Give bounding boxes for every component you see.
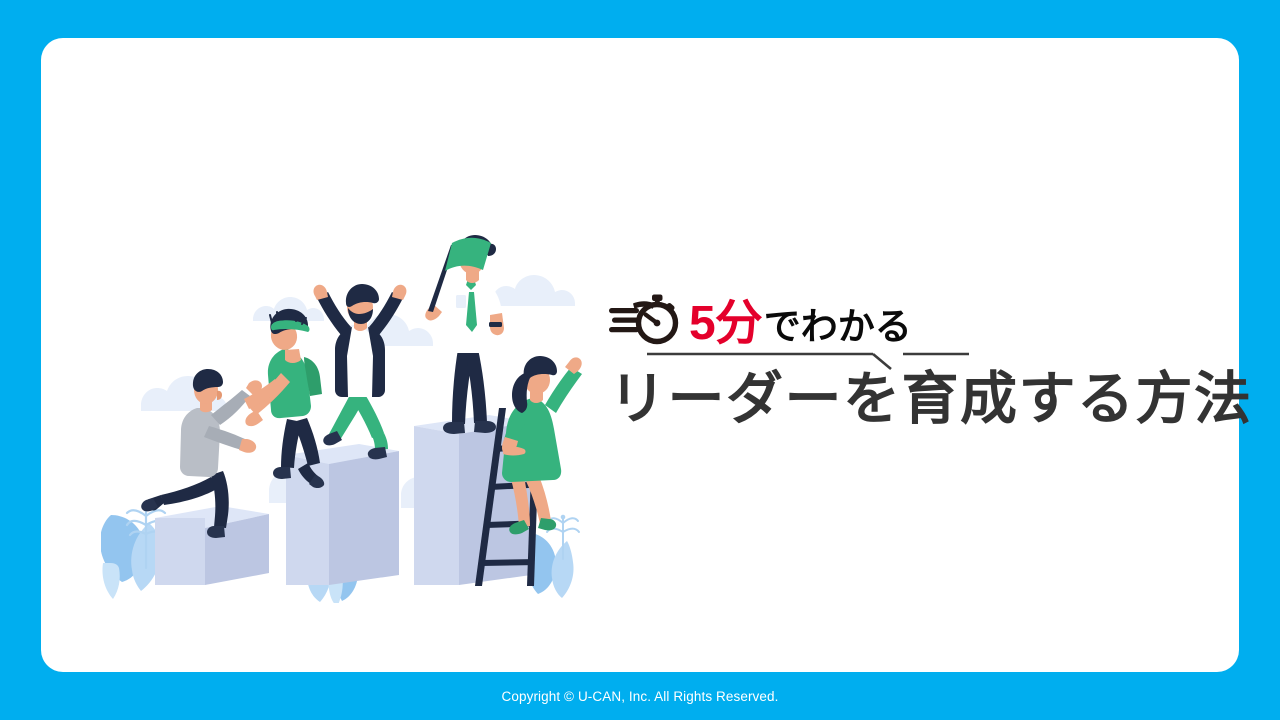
text-block: 5分 でわかる リーダーを育成する方法 [609, 286, 1269, 433]
teamwork-podium-illustration: .nv { fill:#1F2A44; } .nv2 { fill:#27334… [101, 223, 611, 603]
copyright-text: Copyright © U-CAN, Inc. All Rights Reser… [502, 689, 779, 704]
content-card: .nv { fill:#1F2A44; } .nv2 { fill:#27334… [41, 38, 1239, 672]
page-title: リーダーを育成する方法 [609, 366, 1269, 433]
stopwatch-icon [609, 290, 683, 346]
slide-root: .nv { fill:#1F2A44; } .nv2 { fill:#27334… [0, 0, 1280, 720]
podium-block-1 [155, 506, 269, 585]
eyebrow-text: 5分 でわかる [689, 300, 912, 348]
eyebrow-number: 5分 [689, 300, 762, 348]
person-leader-with-flag [425, 235, 504, 434]
person-celebrating-man [314, 284, 407, 459]
eyebrow-row: 5分 でわかる [609, 286, 1269, 348]
footer: Copyright © U-CAN, Inc. All Rights Reser… [0, 672, 1280, 720]
person-helping-woman [244, 309, 324, 488]
podium-block-2 [286, 444, 399, 585]
eyebrow-suffix: でわかる [764, 308, 912, 345]
eyebrow-underline [645, 346, 971, 370]
